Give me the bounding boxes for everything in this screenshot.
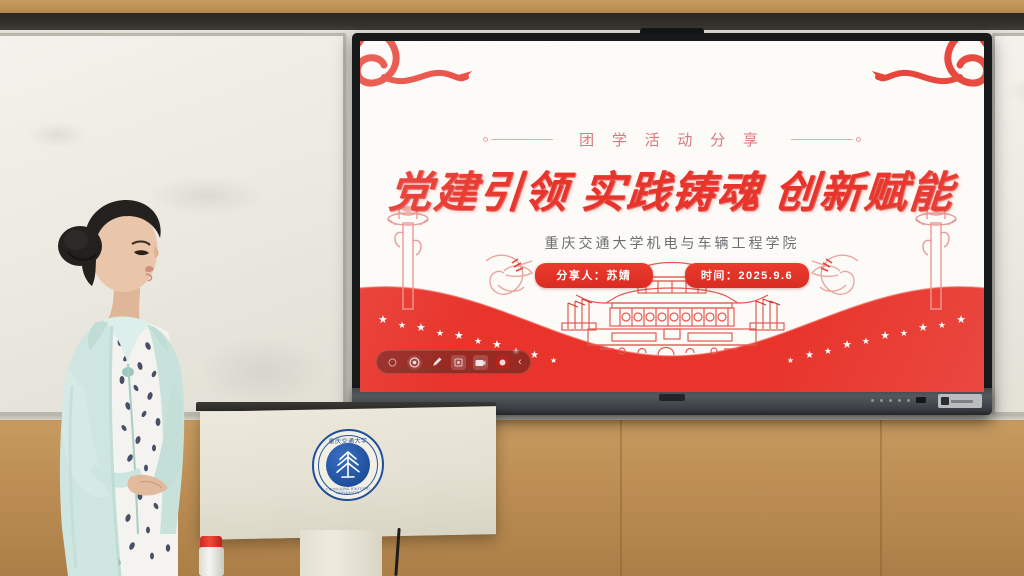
lectern-stem [300, 530, 382, 576]
slide-badge-row: 分享人：苏婧 时间：2025.9.6 [360, 263, 984, 288]
decorative-star: ★ [824, 347, 832, 356]
presenter-badge: 分享人：苏婧 [535, 263, 653, 288]
decorative-star: ★ [550, 357, 557, 365]
decorative-star: ★ [398, 321, 406, 330]
decorative-star: ★ [938, 321, 946, 330]
eyebrow-rule-left [483, 137, 553, 142]
cursor-dot-icon[interactable] [385, 355, 400, 370]
whiteboard-right [992, 33, 1024, 415]
presentation-slide: 团 学 活 动 分 享 党建引领 实践铸魂 创新赋能 重庆交通大学机电与车辆工程… [360, 41, 984, 392]
record-icon[interactable] [495, 355, 510, 370]
decorative-star: ★ [530, 351, 539, 361]
huabiao-column-left-icon [386, 203, 430, 318]
slide-title: 党建引领 实践铸魂 创新赋能 [360, 158, 984, 220]
decorative-star: ★ [454, 331, 464, 342]
brand-logo [659, 394, 685, 401]
chongqing-jiaotong-university-emblem: 重庆交通大学 CHONGQING JIAOTONG UNIVERSITY [312, 428, 384, 501]
decorative-star: ★ [862, 337, 870, 346]
eraser-icon[interactable] [451, 355, 466, 370]
emblem-arc-bottom-text: CHONGQING JIAOTONG UNIVERSITY [314, 486, 382, 495]
circle-target-icon[interactable] [407, 355, 422, 370]
presenter [28, 196, 234, 576]
decorative-star: ★ [787, 357, 794, 365]
pen-icon[interactable] [429, 355, 444, 370]
decorative-star: ★ [900, 329, 908, 338]
classroom-presentation-photo: 团 学 活 动 分 享 党建引领 实践铸魂 创新赋能 重庆交通大学机电与车辆工程… [0, 0, 1024, 576]
ribbon-top-right-icon [860, 41, 984, 114]
interactive-smart-display[interactable]: 团 学 活 动 分 享 党建引领 实践铸魂 创新赋能 重庆交通大学机电与车辆工程… [352, 33, 992, 415]
bezel-indicator-lights [871, 397, 926, 403]
decorative-star: ★ [842, 340, 852, 351]
decorative-star: ★ [805, 351, 814, 361]
wood-panel-seam [880, 420, 882, 576]
annotation-toolbar[interactable]: ‹ [376, 350, 531, 374]
emblem-arc-top-text: 重庆交通大学 [314, 435, 382, 445]
date-badge: 时间：2025.9.6 [685, 263, 809, 288]
decorative-star: ★ [416, 323, 426, 334]
slide-subtitle: 重庆交通大学机电与车辆工程学院 [360, 233, 984, 253]
decorative-star: ★ [956, 315, 966, 326]
decorative-star: ★ [918, 323, 928, 334]
chevron-left-icon[interactable]: ‹ [517, 356, 522, 368]
huabiao-column-right-icon [914, 203, 958, 318]
screenshot-icon[interactable] [473, 355, 488, 370]
slide-eyebrow-row: 团 学 活 动 分 享 [360, 129, 984, 150]
ribbon-top-left-icon [360, 41, 484, 114]
wood-panel-seam [620, 420, 622, 576]
bezel-label-plate [938, 394, 982, 408]
eyebrow-rule-right [791, 137, 861, 142]
decorative-star: ★ [474, 337, 482, 346]
decorative-star: ★ [436, 329, 444, 338]
decorative-star: ★ [378, 315, 388, 326]
slide-eyebrow-text: 团 学 活 动 分 享 [579, 129, 765, 150]
decorative-star: ★ [880, 331, 890, 342]
